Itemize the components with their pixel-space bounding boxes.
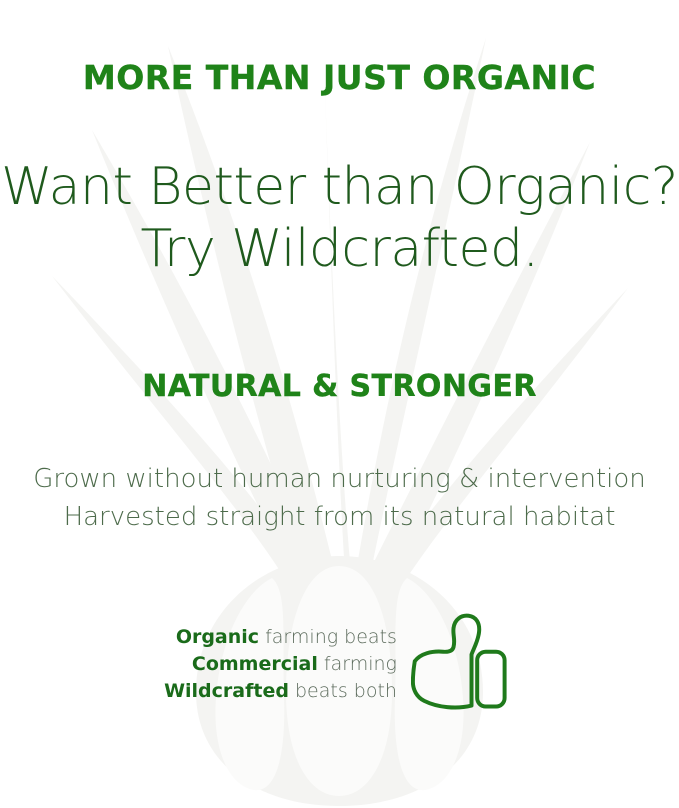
claim-text-lines: Organic farming beats Commercial farming… <box>164 624 397 705</box>
sub-heading: NATURAL & STRONGER <box>0 368 679 406</box>
body-copy: Grown without human nurturing & interven… <box>0 460 679 536</box>
claim-row-2: Commercial farming <box>164 651 397 678</box>
claim-row-2-rest: farming <box>318 653 397 675</box>
headline-line-1: Want Better than Organic? <box>1 157 678 217</box>
claim-row-1-rest: farming beats <box>259 626 397 648</box>
poster-content: MORE THAN JUST ORGANIC Want Better than … <box>0 0 679 808</box>
thumbs-up-icon <box>411 612 515 716</box>
body-line-1: Grown without human nurturing & interven… <box>0 460 679 498</box>
poster-canvas: MORE THAN JUST ORGANIC Want Better than … <box>0 0 679 808</box>
headline-line-2: Try Wildcrafted. <box>0 218 679 280</box>
claim-row-3-rest: beats both <box>289 680 397 702</box>
claim-row-2-strong: Commercial <box>192 653 318 675</box>
main-headline: Want Better than Organic? Try Wildcrafte… <box>0 156 679 280</box>
eyebrow-heading: MORE THAN JUST ORGANIC <box>0 57 679 99</box>
claim-row-1-strong: Organic <box>176 626 259 648</box>
claim-row-3: Wildcrafted beats both <box>164 678 397 705</box>
claim-block: Organic farming beats Commercial farming… <box>0 612 679 716</box>
body-line-2: Harvested straight from its natural habi… <box>0 498 679 536</box>
claim-row-3-strong: Wildcrafted <box>164 680 289 702</box>
claim-row-1: Organic farming beats <box>164 624 397 651</box>
